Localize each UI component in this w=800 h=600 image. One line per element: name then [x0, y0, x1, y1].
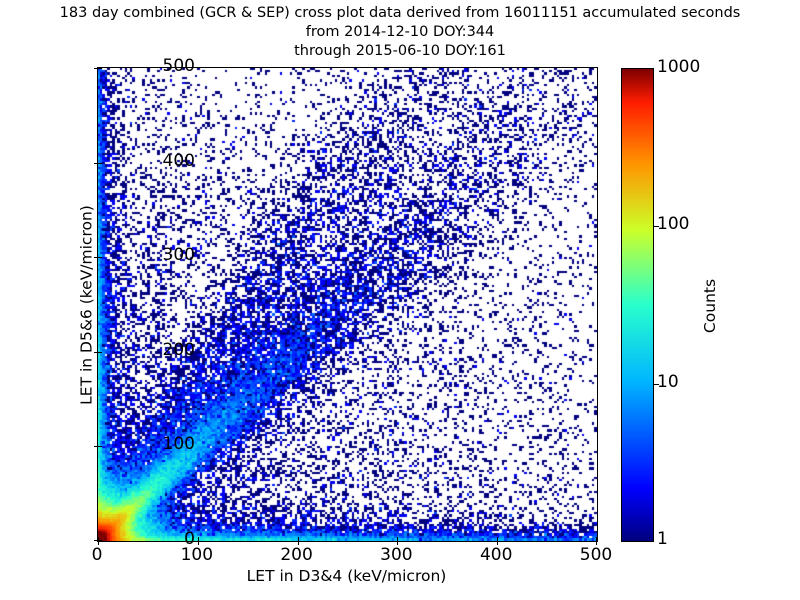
colorbar-gradient — [622, 69, 653, 541]
x-tick-label: 0 — [57, 545, 137, 565]
x-tick-label: 100 — [157, 545, 237, 565]
plot-area[interactable] — [97, 67, 598, 542]
colorbar-tick-label: 100 — [657, 214, 689, 234]
y-tick-label: 200 — [163, 340, 195, 360]
x-tick-label: 300 — [356, 545, 436, 565]
x-tick-label: 200 — [257, 545, 337, 565]
x-tick-label: 500 — [556, 545, 636, 565]
y-axis-tick — [98, 446, 102, 447]
x-tick-label: 400 — [456, 545, 536, 565]
figure-title: 183 day combined (GCR & SEP) cross plot … — [0, 4, 800, 61]
y-tick-label: 100 — [163, 434, 195, 454]
title-line-1: 183 day combined (GCR & SEP) cross plot … — [0, 4, 800, 23]
scatter-heatmap-canvas[interactable] — [98, 68, 597, 541]
title-line-2: from 2014-12-10 DOY:344 — [0, 23, 800, 42]
colorbar-tick-label: 10 — [657, 372, 679, 392]
x-axis-title: LET in D3&4 (keV/micron) — [97, 567, 596, 585]
y-axis-title: LET in D5&6 (keV/micron) — [78, 69, 96, 542]
x-axis-tick — [397, 537, 398, 541]
x-axis-tick — [298, 537, 299, 541]
y-tick-label: 400 — [163, 151, 195, 171]
y-axis-tick — [98, 352, 102, 353]
x-axis-tick — [98, 537, 99, 541]
y-axis-tick — [98, 68, 102, 69]
colorbar-tick-label: 1000 — [657, 57, 700, 77]
y-tick-label: 300 — [163, 245, 195, 265]
x-axis-tick — [596, 537, 597, 541]
x-axis-tick — [497, 537, 498, 541]
y-tick-label: 500 — [163, 56, 195, 76]
colorbar[interactable] — [621, 68, 654, 542]
colorbar-tick-label: 1 — [657, 529, 668, 549]
y-axis-tick — [98, 257, 102, 258]
x-axis-tick — [198, 537, 199, 541]
y-axis-tick — [98, 163, 102, 164]
colorbar-title: Counts — [701, 196, 719, 416]
